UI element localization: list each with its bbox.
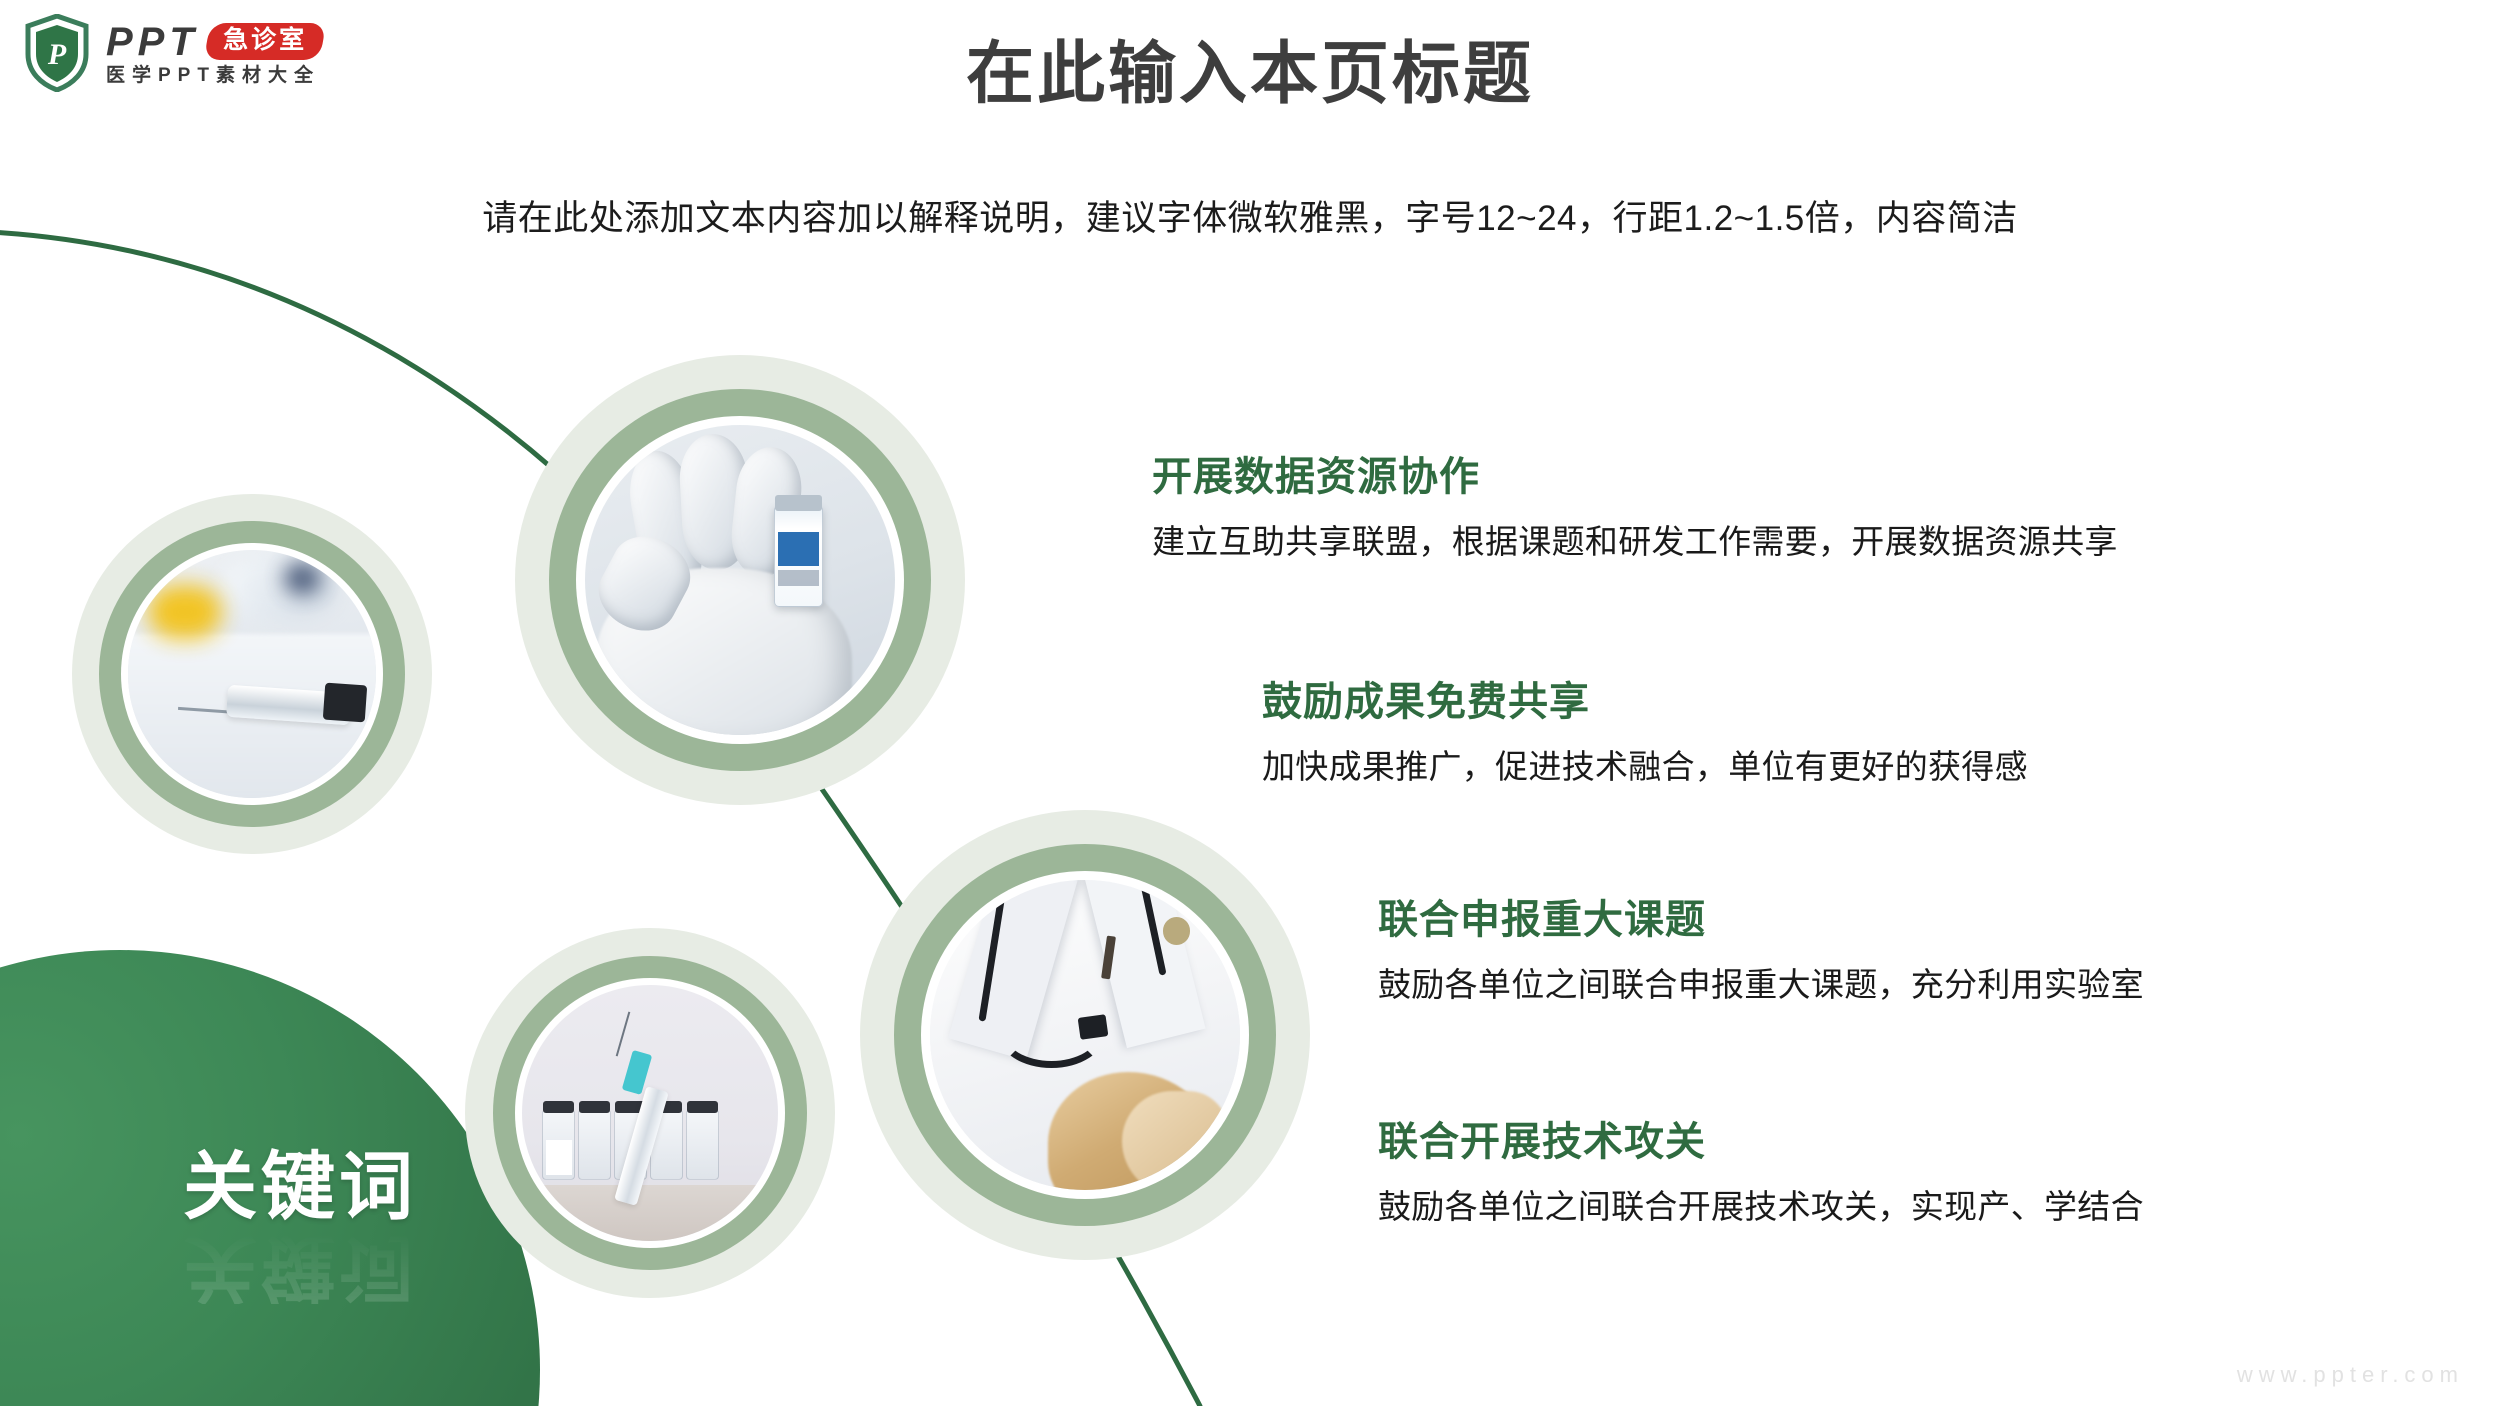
logo-brand: PPT (106, 22, 199, 62)
photo-syringe-and-vials (522, 985, 778, 1241)
photo-doctor-with-patient (930, 880, 1240, 1190)
content-block-2-heading: 鼓励成果免费共享 (1262, 680, 2028, 724)
content-block-3-heading: 联合申报重大课题 (1378, 898, 2144, 942)
content-block-3: 联合申报重大课题 鼓励各单位之间联合申报重大课题，充分利用实验室 (1378, 898, 2144, 1007)
content-block-4-body: 鼓励各单位之间联合开展技术攻关，实现产、学结合 (1378, 1186, 2144, 1229)
watermark: www.ppter.com (2237, 1362, 2464, 1388)
content-block-2: 鼓励成果免费共享 加快成果推广，促进技术融合，单位有更好的获得感 (1262, 680, 2028, 789)
svg-text:P: P (47, 38, 67, 71)
page-subtitle: 请在此处添加文本内容加以解释说明，建议字体微软雅黑，字号12~24，行距1.2~… (0, 190, 2500, 241)
keyword-label: 关键词 (60, 1150, 540, 1224)
content-block-1: 开展数据资源协作 建立互助共享联盟，根据课题和研发工作需要，开展数据资源共享 (1152, 455, 2118, 564)
content-block-4: 联合开展技术攻关 鼓励各单位之间联合开展技术攻关，实现产、学结合 (1378, 1120, 2144, 1229)
shield-icon: P (24, 14, 90, 92)
photo-circle-2[interactable] (515, 355, 965, 805)
keyword-badge: 关键词 关键词 (60, 1150, 540, 1304)
content-block-4-heading: 联合开展技术攻关 (1378, 1120, 2144, 1164)
content-block-2-body: 加快成果推广，促进技术融合，单位有更好的获得感 (1262, 746, 2028, 789)
content-block-1-body: 建立互助共享联盟，根据课题和研发工作需要，开展数据资源共享 (1152, 521, 2118, 564)
logo-tagline: 医学PPT素材大全 (106, 66, 323, 85)
slide-canvas: 关键词 关键词 P PPT 急诊室 医学PPT素材大全 在此输入本页标题 请在此… (0, 0, 2500, 1406)
site-logo[interactable]: P PPT 急诊室 医学PPT素材大全 (24, 14, 323, 92)
content-block-1-heading: 开展数据资源协作 (1152, 455, 2118, 499)
page-title: 在此输入本页标题 (0, 18, 2500, 117)
keyword-reflection: 关键词 (60, 1230, 540, 1304)
photo-syringe-on-tray (128, 550, 376, 798)
photo-circle-4[interactable] (860, 810, 1310, 1260)
photo-gloved-hand-vial (585, 425, 895, 735)
logo-badge-text: 急诊室 (223, 27, 307, 55)
content-block-3-body: 鼓励各单位之间联合申报重大课题，充分利用实验室 (1378, 964, 2144, 1007)
logo-badge: 急诊室 (204, 23, 326, 60)
photo-circle-1[interactable] (72, 494, 432, 854)
